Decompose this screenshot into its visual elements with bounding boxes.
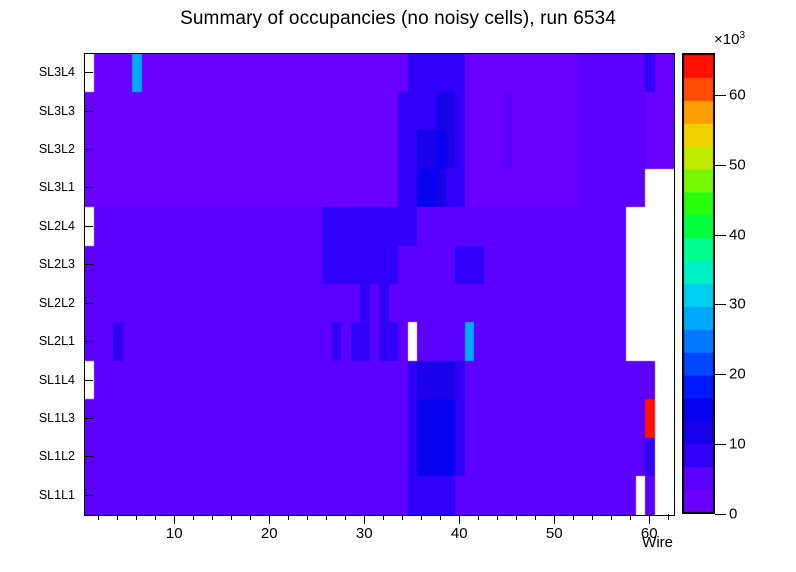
y-axis-tick [84,456,93,457]
x-axis-minor-tick [402,514,403,520]
x-axis-minor-tick [497,514,498,520]
x-axis-minor-tick [421,514,422,520]
y-axis-label-sl2l3: SL2L3 [0,257,84,271]
y-axis-tick [84,303,93,304]
x-axis-minor-tick [516,514,517,520]
x-axis-minor-tick [307,514,308,520]
x-axis-major-tick [554,514,555,524]
x-axis-major-tick [649,514,650,524]
color-scale-tick-label-40: 40 [729,226,746,243]
x-axis-minor-tick [231,514,232,520]
color-scale-tick [715,444,726,445]
x-axis-minor-tick [573,514,574,520]
color-scale-exponent: ×103 [714,30,745,48]
y-axis-label-sl2l4: SL2L4 [0,219,84,233]
y-axis-tick [84,341,93,342]
color-scale-tick [715,304,726,305]
color-scale-tick-label-60: 60 [729,86,746,103]
x-axis-minor-tick [117,514,118,520]
x-axis-title: Wire [0,534,675,551]
x-axis-major-tick [364,514,365,524]
y-axis-label-sl2l1: SL2L1 [0,334,84,348]
x-axis-minor-tick [535,514,536,520]
x-axis-minor-tick [288,514,289,520]
color-scale-tick [715,514,726,515]
color-scale-tick [715,235,726,236]
y-axis-tick [84,149,93,150]
x-axis-major-tick [269,514,270,524]
y-axis-tick [84,226,93,227]
y-axis-tick [84,495,93,496]
y-axis-labels: SL3L4SL3L3SL3L2SL3L1SL2L4SL2L3SL2L2SL2L1… [0,53,84,514]
color-scale-tick [715,374,726,375]
y-axis-tick [84,264,93,265]
x-axis-minor-tick [668,514,669,520]
y-axis-label-sl2l2: SL2L2 [0,296,84,310]
plot-canvas: Summary of occupancies (no noisy cells),… [0,0,796,572]
x-axis-minor-tick [250,514,251,520]
color-scale-tick-label-30: 30 [729,296,746,313]
y-axis-tick [84,111,93,112]
color-scale-tick-label-10: 10 [729,436,746,453]
x-axis-minor-tick [212,514,213,520]
y-axis-tick [84,380,93,381]
x-axis-minor-tick [440,514,441,520]
x-axis-minor-tick [193,514,194,520]
x-axis-minor-tick [155,514,156,520]
x-axis-minor-tick [592,514,593,520]
y-axis-label-sl1l1: SL1L1 [0,488,84,502]
y-axis-tick [84,418,93,419]
x-axis-minor-tick [136,514,137,520]
x-axis-minor-tick [345,514,346,520]
y-axis-label-sl3l1: SL3L1 [0,180,84,194]
color-scale-tick-label-0: 0 [729,506,737,523]
heatmap-plot-area [84,53,675,516]
y-axis-tick [84,72,93,73]
y-axis-label-sl3l3: SL3L3 [0,104,84,118]
y-axis-tick [84,187,93,188]
x-axis-minor-tick [611,514,612,520]
color-scale-tick [715,165,726,166]
x-axis-minor-tick [383,514,384,520]
x-axis-minor-tick [478,514,479,520]
x-axis-major-tick [174,514,175,524]
x-axis-major-tick [459,514,460,524]
x-axis-minor-tick [630,514,631,520]
y-axis-label-sl1l2: SL1L2 [0,449,84,463]
heatmap-canvas [85,54,674,515]
color-scale-ticks: 0102030405060 [682,53,792,514]
x-axis-minor-tick [98,514,99,520]
y-axis-label-sl1l4: SL1L4 [0,373,84,387]
page-title: Summary of occupancies (no noisy cells),… [0,8,796,30]
color-scale-tick-label-20: 20 [729,366,746,383]
y-axis-label-sl3l4: SL3L4 [0,65,84,79]
color-scale-tick [715,95,726,96]
color-scale-tick-label-50: 50 [729,156,746,173]
y-axis-label-sl1l3: SL1L3 [0,411,84,425]
y-axis-label-sl3l2: SL3L2 [0,142,84,156]
x-axis-minor-tick [326,514,327,520]
